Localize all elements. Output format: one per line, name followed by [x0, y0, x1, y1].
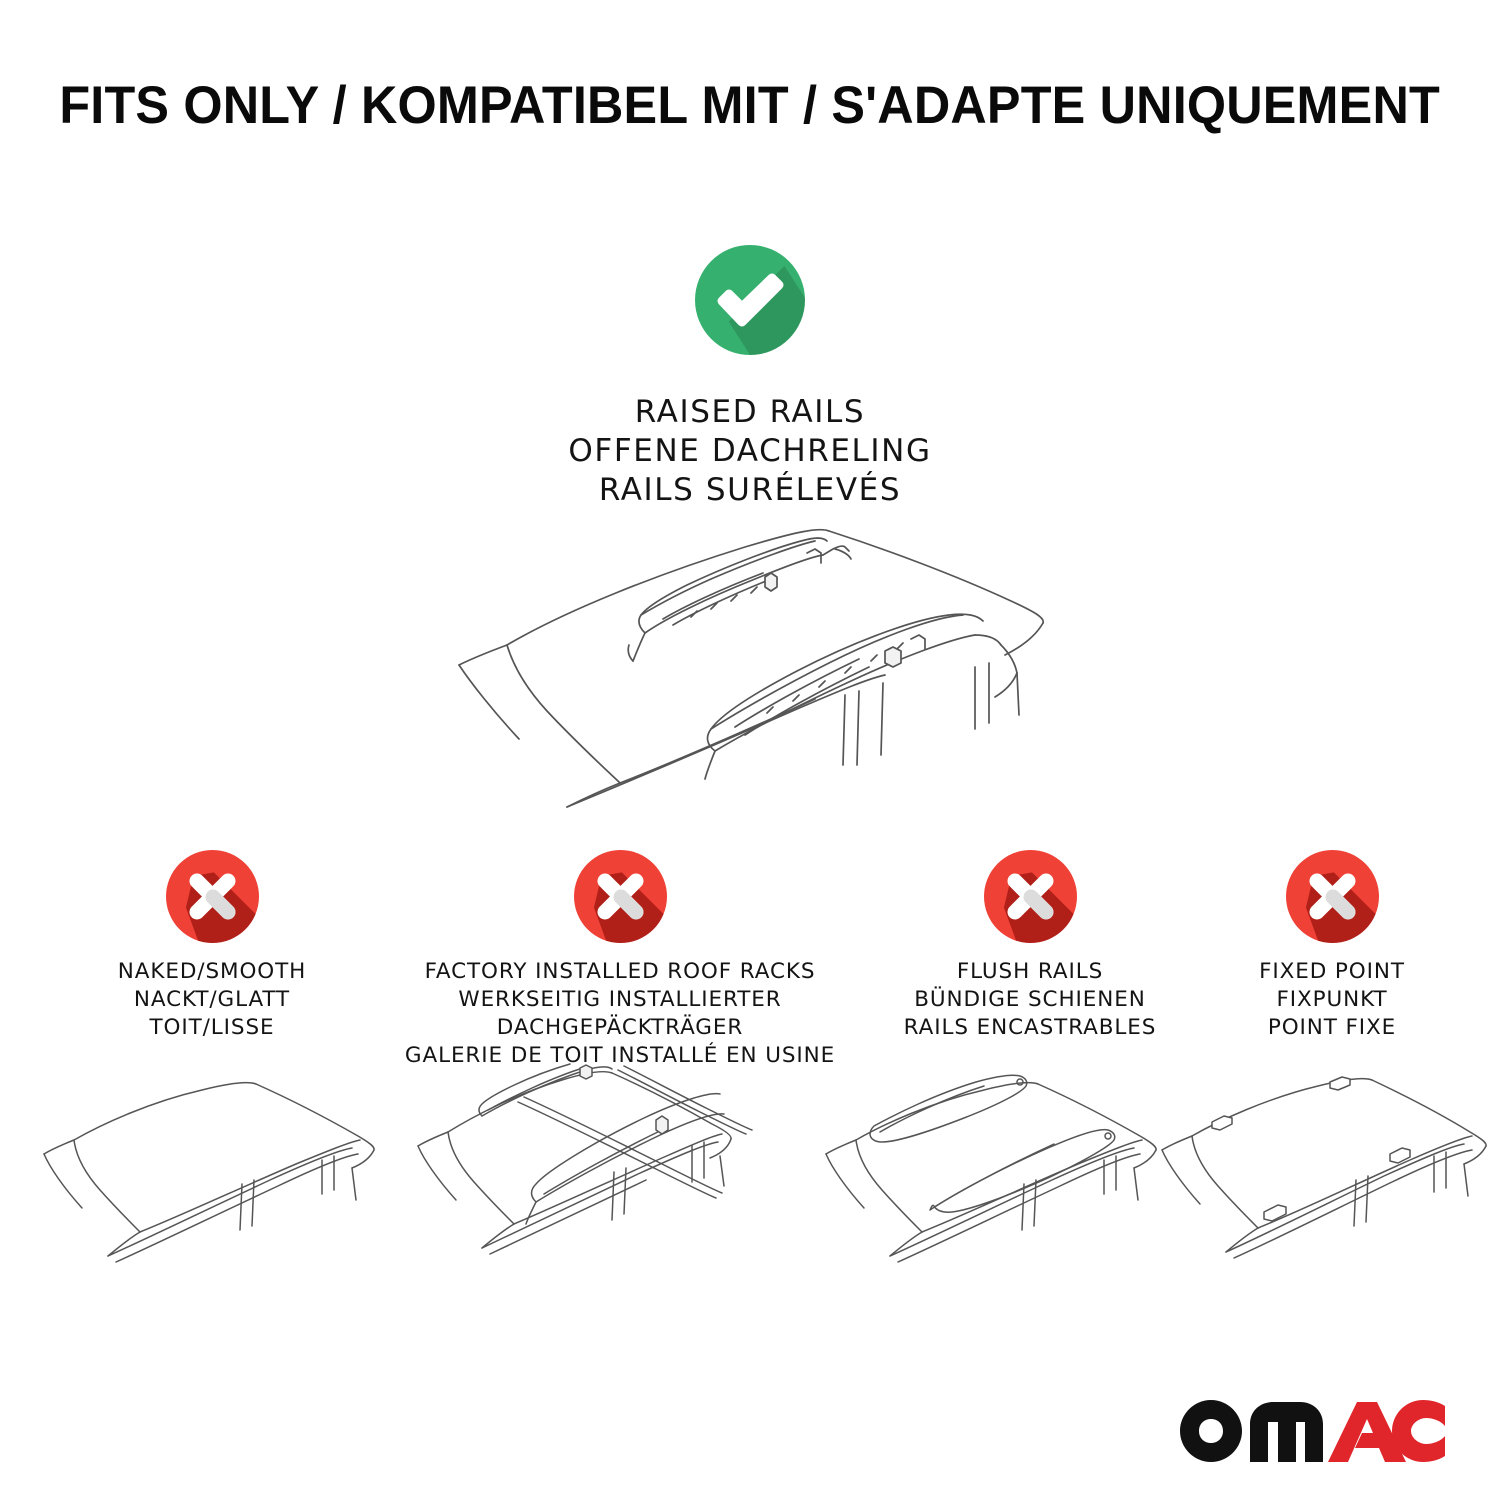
incompatible-label-line-1: BÜNDIGE SCHIENEN: [904, 986, 1157, 1014]
incompatible-item-naked-smooth: NAKED/SMOOTH NACKT/GLATT TOIT/LISSE: [32, 850, 392, 1042]
incompatible-section: NAKED/SMOOTH NACKT/GLATT TOIT/LISSE: [0, 850, 1500, 1050]
page-header: FITS ONLY / KOMPATIBEL MIT / S'ADAPTE UN…: [0, 0, 1500, 210]
badge-wrap: [1286, 850, 1379, 946]
incompatible-label-line-0: FACTORY INSTALLED ROOF RACKS: [405, 958, 835, 986]
compatible-label-line-0: RAISED RAILS: [568, 393, 931, 432]
car-roof-flush-rails-illustration: [812, 1060, 1192, 1310]
check-circle-icon: [695, 245, 805, 355]
incompatible-label-line-1: FIXPUNKT: [1259, 986, 1405, 1014]
x-circle-icon: [166, 850, 259, 943]
page-title: FITS ONLY / KOMPATIBEL MIT / S'ADAPTE UN…: [60, 75, 1441, 136]
incompatible-label-line-1: WERKSEITIG INSTALLIERTER: [405, 986, 835, 1014]
incompatible-item-factory-roof-racks: FACTORY INSTALLED ROOF RACKS WERKSEITIG …: [400, 850, 840, 1070]
incompatible-label-line-0: FLUSH RAILS: [904, 958, 1157, 986]
omac-logo: OMAC: [1180, 1400, 1445, 1462]
compatible-label: RAISED RAILS OFFENE DACHRELING RAILS SUR…: [568, 393, 931, 510]
incompatible-label-line-2: RAILS ENCASTRABLES: [904, 1014, 1157, 1042]
x-mark-glyph: [574, 850, 667, 943]
incompatible-label: FACTORY INSTALLED ROOF RACKS WERKSEITIG …: [405, 958, 835, 1070]
incompatible-label: NAKED/SMOOTH NACKT/GLATT TOIT/LISSE: [118, 958, 306, 1042]
badge-wrap: [574, 850, 667, 946]
incompatible-label-line-2: DACHGEPÄCKTRÄGER: [405, 1014, 835, 1042]
incompatible-item-fixed-point: FIXED POINT FIXPUNKT POINT FIXE: [1218, 850, 1446, 1042]
compatible-section: RAISED RAILS OFFENE DACHRELING RAILS SUR…: [350, 245, 1150, 510]
incompatible-label: FLUSH RAILS BÜNDIGE SCHIENEN RAILS ENCAS…: [904, 958, 1157, 1042]
car-roof-fixed-point-illustration: [1152, 1060, 1500, 1310]
incompatible-label: FIXED POINT FIXPUNKT POINT FIXE: [1259, 958, 1405, 1042]
incompatible-label-line-2: TOIT/LISSE: [118, 1014, 306, 1042]
car-roof-raised-rails-illustration: [415, 515, 1095, 815]
x-circle-icon: [1286, 850, 1379, 943]
x-mark-glyph: [166, 850, 259, 943]
incompatible-label-line-0: FIXED POINT: [1259, 958, 1405, 986]
incompatible-label-line-1: NACKT/GLATT: [118, 986, 306, 1014]
car-roof-naked-smooth-illustration: [30, 1060, 410, 1310]
car-roof-factory-roof-racks-illustration: [400, 1060, 800, 1310]
compatible-label-line-1: OFFENE DACHRELING: [568, 432, 931, 471]
logo-letter-o: [1180, 1400, 1242, 1462]
x-circle-icon: [574, 850, 667, 943]
x-mark-glyph: [1286, 850, 1379, 943]
x-mark-glyph: [984, 850, 1077, 943]
incompatible-label-line-0: NAKED/SMOOTH: [118, 958, 306, 986]
incompatible-item-flush-rails: FLUSH RAILS BÜNDIGE SCHIENEN RAILS ENCAS…: [840, 850, 1220, 1042]
x-circle-icon: [984, 850, 1077, 943]
badge-wrap: [984, 850, 1077, 946]
logo-letter-m: [1250, 1402, 1323, 1462]
compatible-label-line-2: RAILS SURÉLEVÉS: [568, 471, 931, 510]
badge-wrap: [166, 850, 259, 946]
check-mark-glyph: [695, 245, 805, 355]
incompatible-label-line-2: POINT FIXE: [1259, 1014, 1405, 1042]
